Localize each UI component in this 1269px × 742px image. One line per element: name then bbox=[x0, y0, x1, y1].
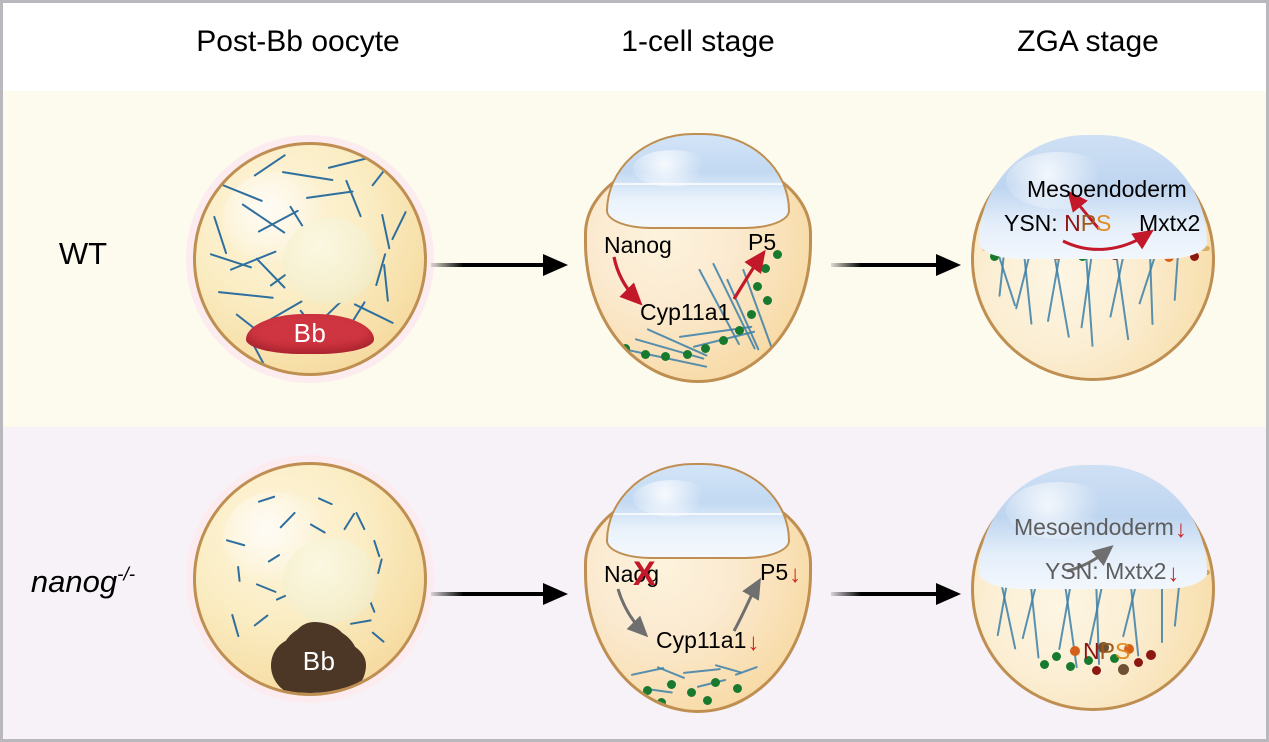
mxtx2-down-arrow-icon: ↓ bbox=[1167, 562, 1179, 586]
nps-letter-n: N bbox=[1064, 210, 1081, 236]
arrow-shaft bbox=[431, 592, 546, 596]
wt-zga-stage bbox=[971, 137, 1215, 381]
balbiani-body-mutant: Bb bbox=[280, 625, 358, 696]
column-title-zga-stage: ZGA stage bbox=[933, 25, 1243, 59]
wt-label-nanog: Nanog bbox=[604, 234, 672, 257]
stage-arrow-wt-onecell-to-zga bbox=[831, 252, 961, 278]
nps-letter-s: S bbox=[1096, 210, 1111, 236]
wt-zga-arrows bbox=[971, 137, 1215, 381]
figure-canvas: Post-Bb oocyte 1-cell stage ZGA stage WT bbox=[0, 0, 1269, 742]
mesoendoderm-down-arrow-icon: ↓ bbox=[1175, 518, 1187, 542]
arrow-shaft bbox=[431, 263, 546, 267]
stage-arrow-mut-oocyte-to-onecell bbox=[431, 581, 568, 607]
mut-label-ysn-mxtx2: YSN: Mxtx2↓ bbox=[1045, 560, 1179, 586]
mesoendoderm-text: Mesoendoderm bbox=[1014, 514, 1174, 540]
p5-text: P5 bbox=[760, 559, 788, 585]
nps-letter-s: S bbox=[1115, 638, 1130, 664]
cyp11a1-down-arrow-icon: ↓ bbox=[747, 631, 759, 655]
mut-label-cyp11a1: Cyp11a1↓ bbox=[656, 629, 759, 655]
ysn-text: YSN: bbox=[1004, 210, 1058, 236]
arrow-shaft bbox=[831, 263, 939, 267]
arrow-shaft bbox=[831, 592, 939, 596]
wt-label-ysn: YSN: NPS bbox=[1004, 212, 1111, 235]
nps-label: NPS bbox=[1064, 210, 1111, 236]
wt-label-cyp11a1: Cyp11a1 bbox=[640, 301, 730, 324]
wt-label-p5: P5 bbox=[748, 231, 776, 254]
column-title-1-cell-stage: 1-cell stage bbox=[548, 25, 848, 59]
mut-post-bb-oocyte: Bb bbox=[186, 455, 434, 703]
nps-letter-p: P bbox=[1081, 210, 1096, 236]
stage-arrow-mut-onecell-to-zga bbox=[831, 581, 961, 607]
oocyte-nucleus bbox=[283, 218, 377, 304]
mxtx2-text: Mxtx2 bbox=[1105, 558, 1166, 584]
wt-label-mesoendoderm: Mesoendoderm bbox=[1027, 178, 1187, 201]
mut-label-nps: NPS bbox=[1083, 640, 1130, 663]
arrow-head bbox=[543, 254, 568, 276]
nps-letter-n: N bbox=[1083, 638, 1100, 664]
wt-post-bb-oocyte: Bb bbox=[186, 135, 434, 383]
mut-1-cell-stage bbox=[584, 461, 812, 713]
column-title-post-bb-oocyte: Post-Bb oocyte bbox=[113, 25, 483, 59]
cyp11a1-text: Cyp11a1 bbox=[656, 627, 746, 653]
mut-label-p5: P5↓ bbox=[760, 561, 801, 587]
balbiani-body-label: Bb bbox=[280, 625, 358, 696]
p5-down-arrow-icon: ↓ bbox=[789, 563, 801, 587]
mut-regulation-arrows bbox=[584, 461, 812, 713]
nanog-knockout-x-icon: X bbox=[633, 557, 656, 591]
nps-letter-p: P bbox=[1100, 638, 1115, 664]
balbiani-body-wt: Bb bbox=[246, 314, 374, 354]
row-label-wt: WT bbox=[3, 236, 163, 272]
column-header-row: Post-Bb oocyte 1-cell stage ZGA stage bbox=[3, 3, 1266, 91]
mut-zga-stage bbox=[971, 467, 1215, 711]
nanog-prefix: Na bbox=[604, 561, 633, 587]
row-label-nanog-mutant: nanog-/- bbox=[3, 564, 163, 600]
oocyte-nucleus bbox=[283, 538, 377, 624]
stage-arrow-wt-oocyte-to-onecell bbox=[431, 252, 568, 278]
oocyte-cortex: Bb bbox=[193, 142, 427, 376]
arrow-head bbox=[936, 583, 961, 605]
wt-label-mxtx2: Mxtx2 bbox=[1139, 212, 1200, 235]
row-label-gene: nanog bbox=[31, 564, 117, 599]
oocyte-body: Bb bbox=[186, 455, 434, 703]
oocyte-cortex: Bb bbox=[193, 462, 427, 696]
balbiani-body-label: Bb bbox=[246, 314, 374, 354]
oocyte-body: Bb bbox=[186, 135, 434, 383]
ysn-text: YSN: bbox=[1045, 558, 1099, 584]
mut-label-mesoendoderm: Mesoendoderm↓ bbox=[1014, 516, 1187, 542]
arrow-head bbox=[543, 583, 568, 605]
arrow-head bbox=[936, 254, 961, 276]
row-label-superscript: -/- bbox=[117, 565, 135, 586]
mut-zga-arrow bbox=[971, 467, 1215, 711]
